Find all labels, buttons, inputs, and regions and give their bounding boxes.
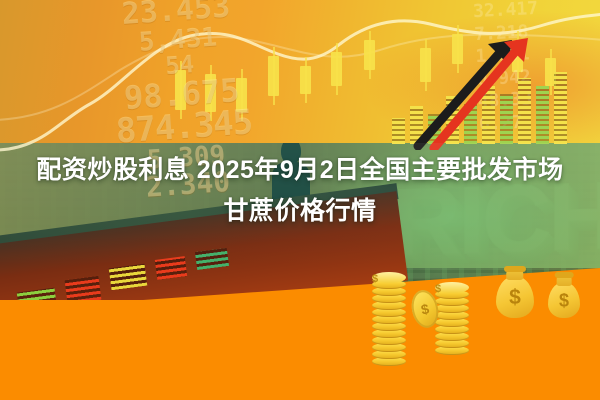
dollar-sign: $ — [548, 290, 580, 311]
arrow-dark — [418, 40, 512, 146]
dollar-sign: $ — [435, 283, 469, 295]
candlestick — [331, 52, 342, 86]
money-bag: $ — [548, 282, 580, 318]
money-bag: $ — [496, 276, 534, 318]
page-title-line2: 甘蔗价格行情 — [0, 191, 600, 232]
arrow-group — [400, 30, 580, 150]
money-bag-tie — [555, 272, 574, 278]
ticker-block — [155, 256, 187, 280]
dollar-sign: $ — [372, 273, 406, 285]
page-title-line1: 配资炒股利息 2025年9月2日全国主要批发市场 — [36, 156, 563, 184]
page-title: 配资炒股利息 2025年9月2日全国主要批发市场 甘蔗价格行情 — [0, 150, 600, 232]
coin-stack: $ — [372, 268, 406, 364]
dollar-sign: $ — [496, 286, 534, 310]
candlestick — [364, 40, 375, 70]
banner-image: RICH 23.453 5,431 54 98.675 874.345 5.30… — [0, 0, 600, 400]
coin-stack: $ — [435, 278, 469, 353]
money-bag-tie — [504, 266, 526, 272]
arrow-red — [434, 38, 528, 148]
ticker-block — [109, 264, 148, 291]
